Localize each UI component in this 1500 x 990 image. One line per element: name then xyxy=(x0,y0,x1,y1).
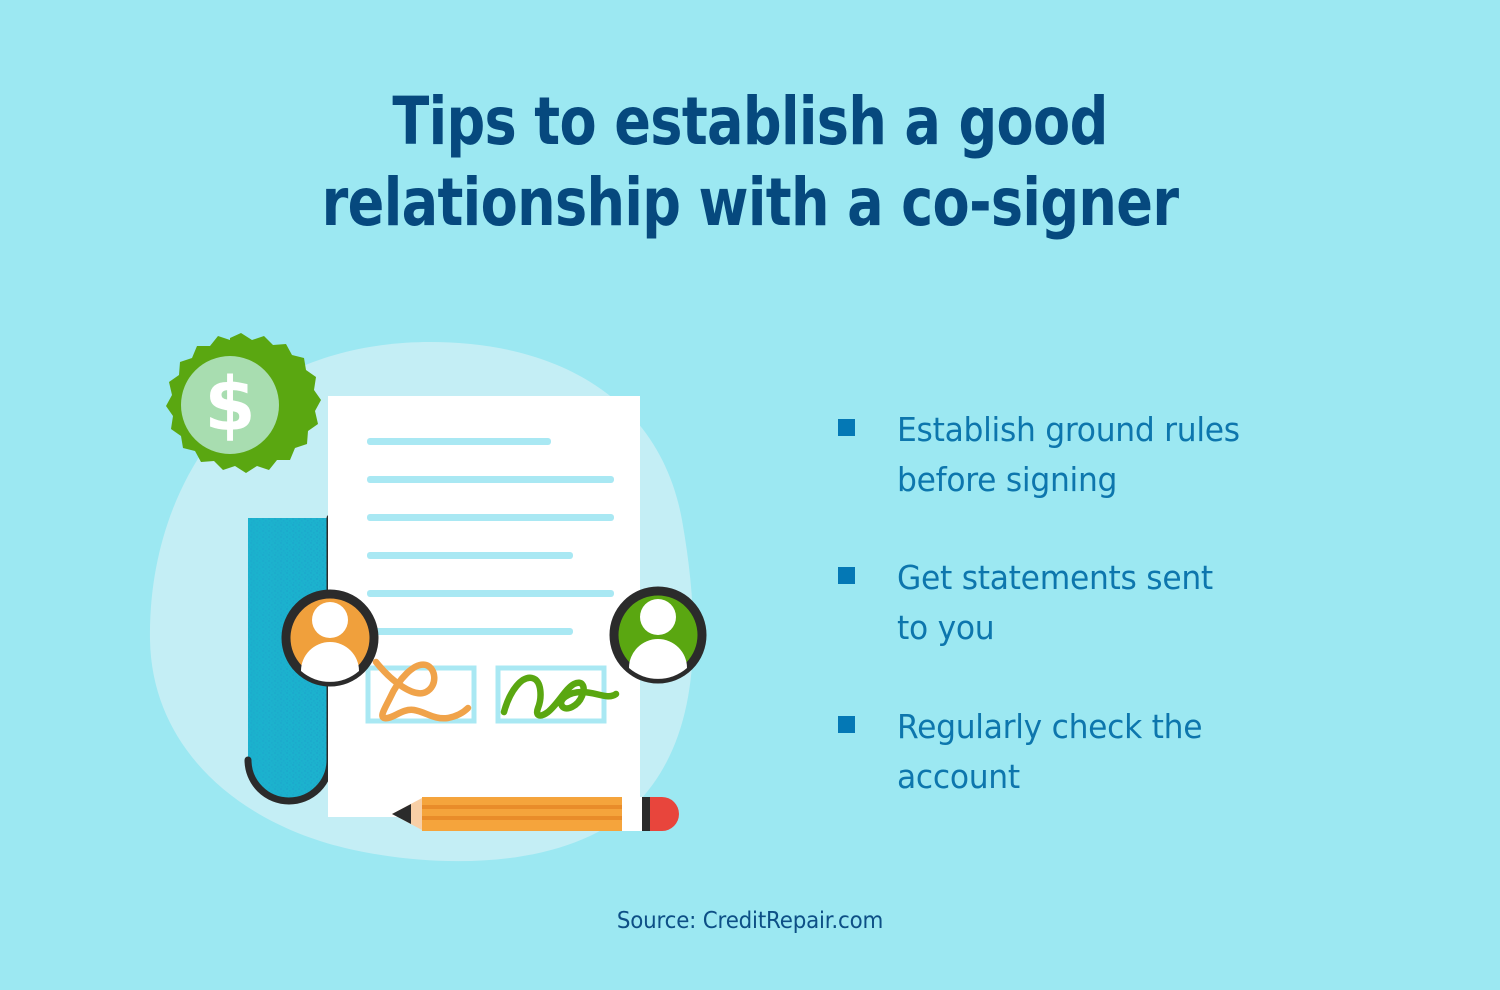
list-item-label: Get statements sent to you xyxy=(897,553,1213,653)
pencil xyxy=(392,797,679,831)
svg-text:$: $ xyxy=(204,362,256,448)
list-item: Get statements sent to you xyxy=(838,553,1308,653)
square-bullet-icon xyxy=(838,716,855,733)
infographic-canvas: Tips to establish a good relationship wi… xyxy=(0,0,1500,990)
title-line-2: relationship with a co-signer xyxy=(299,163,1201,244)
document-sheet xyxy=(328,396,640,817)
page-title: Tips to establish a good relationship wi… xyxy=(299,82,1201,243)
list-item-label: Regularly check the account xyxy=(897,702,1202,802)
contract-signing-illustration: $ xyxy=(130,320,730,880)
cosigner-avatar-green xyxy=(614,591,702,679)
list-item: Establish ground rules before signing xyxy=(838,405,1308,505)
tips-list: Establish ground rules before signing Ge… xyxy=(838,405,1308,802)
title-line-1: Tips to establish a good xyxy=(299,82,1201,163)
cosigner-avatar-orange xyxy=(286,594,374,682)
square-bullet-icon xyxy=(838,567,855,584)
list-item-label: Establish ground rules before signing xyxy=(897,405,1240,505)
source-attribution: Source: CreditRepair.com xyxy=(53,908,1448,934)
square-bullet-icon xyxy=(838,419,855,436)
list-item: Regularly check the account xyxy=(838,702,1308,802)
